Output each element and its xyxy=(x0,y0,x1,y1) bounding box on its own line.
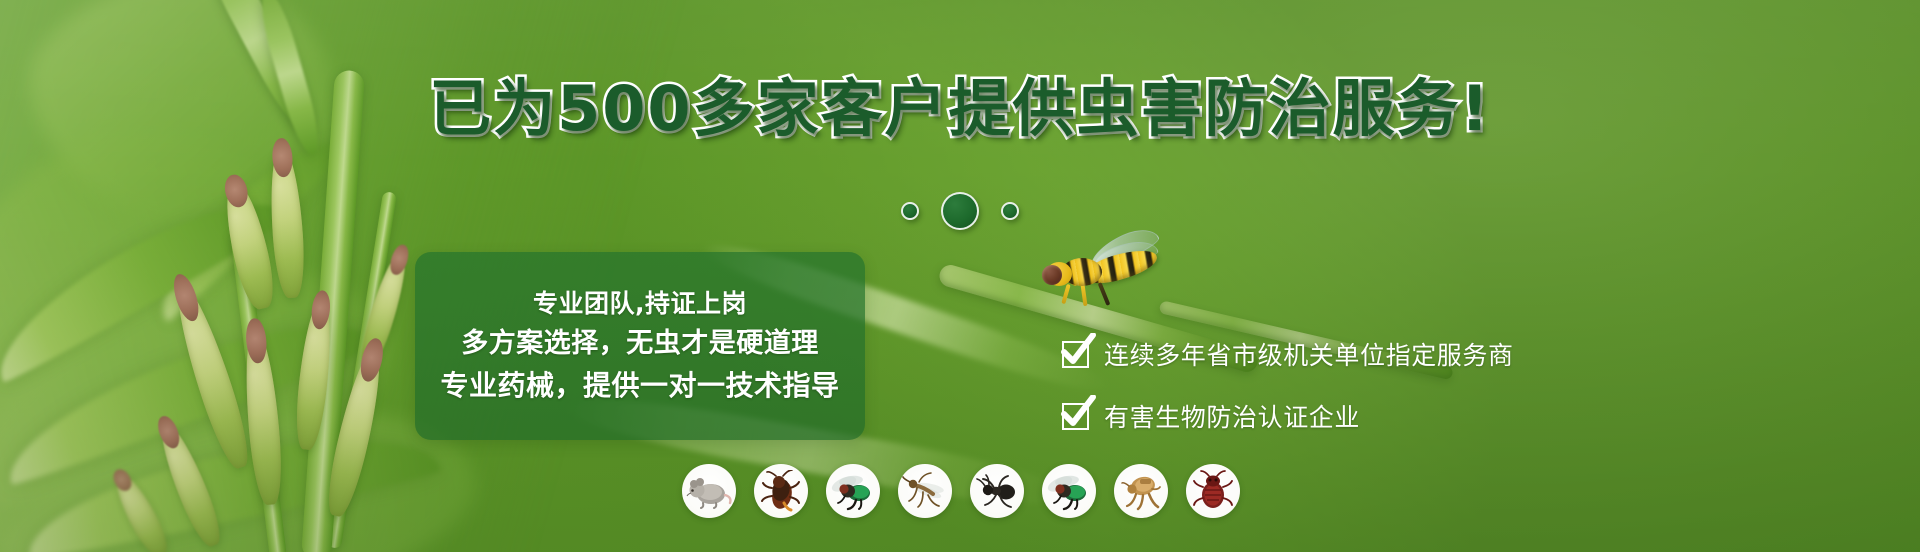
dot-small-right-icon xyxy=(1001,202,1019,220)
hoverfly-leg xyxy=(1061,284,1070,304)
ant-icon[interactable] xyxy=(970,464,1024,518)
feature-line-2: 多方案选择，无虫才是硬道理 xyxy=(461,329,819,359)
rodent-icon[interactable] xyxy=(682,464,736,518)
credentials-checklist: 连续多年省市级机关单位指定服务商 有害生物防治认证企业 xyxy=(1062,336,1514,434)
checklist-text-2: 有害生物防治认证企业 xyxy=(1104,398,1360,434)
feature-line-1: 专业团队,持证上岗 xyxy=(533,290,747,318)
fly-icon[interactable] xyxy=(826,464,880,518)
pest-icon-strip xyxy=(682,464,1240,518)
check-mark-icon xyxy=(1062,341,1089,368)
flea-icon[interactable] xyxy=(1114,464,1168,518)
list-item: 连续多年省市级机关单位指定服务商 xyxy=(1062,336,1514,372)
hoverfly-leg xyxy=(1080,284,1087,306)
feature-highlight-box: 专业团队,持证上岗 多方案选择，无虫才是硬道理 专业药械，提供一对一技术指导 xyxy=(415,252,865,440)
bedbug-icon[interactable] xyxy=(1186,464,1240,518)
hoverfly-eye xyxy=(1042,265,1062,285)
checklist-text-1: 连续多年省市级机关单位指定服务商 xyxy=(1104,336,1514,372)
dot-small-left-icon xyxy=(901,202,919,220)
decorative-dot-row xyxy=(901,192,1019,230)
hoverfly-illustration xyxy=(1040,248,1158,304)
mosquito-icon[interactable] xyxy=(898,464,952,518)
check-mark-icon xyxy=(1062,403,1089,430)
cockroach-icon[interactable] xyxy=(754,464,808,518)
hoverfly-leg xyxy=(1098,282,1111,306)
feature-line-3: 专业药械，提供一对一技术指导 xyxy=(440,370,839,401)
list-item: 有害生物防治认证企业 xyxy=(1062,398,1514,434)
pest-control-banner: 已为500多家客户提供虫害防治服务! 专业团队,持证上岗 多方案选择，无虫才是硬… xyxy=(0,0,1920,552)
page-title: 已为500多家客户提供虫害防治服务! xyxy=(0,78,1920,140)
blowfly-icon[interactable] xyxy=(1042,464,1096,518)
dot-large-center-icon xyxy=(941,192,979,230)
